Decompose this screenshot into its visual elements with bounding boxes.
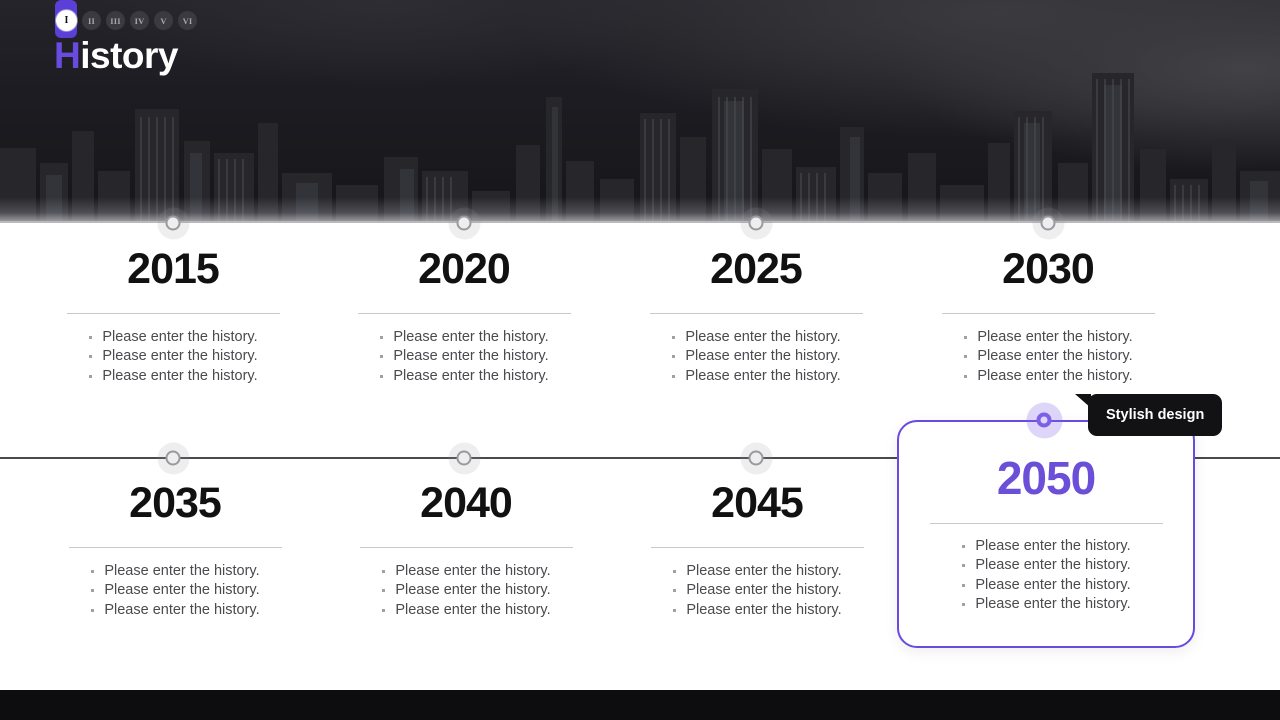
list-item: Please enter the history. (90, 562, 259, 581)
list-item: Please enter the history. (963, 328, 1132, 347)
tooltip-label: Stylish design (1106, 407, 1204, 423)
pagination-label: II (88, 16, 95, 26)
timeline-card-2030[interactable]: 2030 Please enter the history. Please en… (903, 248, 1193, 386)
list-item: Please enter the history. (963, 347, 1132, 366)
page-title: History (54, 36, 178, 77)
hero-banner (0, 0, 1280, 223)
pagination-item-1[interactable]: I (56, 10, 77, 31)
list-item: Please enter the history. (90, 581, 259, 600)
pagination-item-2[interactable]: II (82, 11, 101, 30)
card-bullet-list: Please enter the history. Please enter t… (961, 537, 1130, 614)
tooltip-stylish-design: Stylish design (1088, 394, 1222, 436)
card-year: 2040 (321, 482, 611, 525)
timeline-marker-2045[interactable] (749, 451, 764, 466)
timeline-marker-2015[interactable] (166, 216, 181, 231)
list-item: Please enter the history. (88, 347, 257, 366)
timeline-card-2015[interactable]: 2015 Please enter the history. Please en… (28, 248, 318, 386)
card-divider (360, 547, 573, 548)
timeline-marker-2025[interactable] (749, 216, 764, 231)
card-divider (358, 313, 571, 314)
pagination-label: IV (135, 16, 145, 26)
card-bullet-list: Please enter the history. Please enter t… (88, 328, 257, 386)
list-item: Please enter the history. (88, 328, 257, 347)
list-item: Please enter the history. (961, 576, 1130, 595)
list-item: Please enter the history. (672, 601, 841, 620)
pagination-item-4[interactable]: IV (130, 11, 149, 30)
card-divider (650, 313, 863, 314)
timeline-card-2045[interactable]: 2045 Please enter the history. Please en… (612, 482, 902, 620)
footer-bar (0, 690, 1280, 720)
card-year: 2030 (903, 248, 1193, 291)
list-item: Please enter the history. (961, 537, 1130, 556)
timeline-marker-2040[interactable] (457, 451, 472, 466)
card-divider (67, 313, 280, 314)
page-title-accent: H (54, 35, 80, 76)
tooltip-tail (1075, 394, 1091, 408)
card-year: 2020 (319, 248, 609, 291)
card-bullet-list: Please enter the history. Please enter t… (671, 328, 840, 386)
list-item: Please enter the history. (379, 367, 548, 386)
timeline-card-2025[interactable]: 2025 Please enter the history. Please en… (611, 248, 901, 386)
card-divider (69, 547, 282, 548)
timeline-marker-2030[interactable] (1041, 216, 1056, 231)
card-year: 2015 (28, 248, 318, 291)
card-year: 2025 (611, 248, 901, 291)
card-divider (930, 523, 1163, 524)
pagination-label: III (110, 16, 121, 26)
card-divider (942, 313, 1155, 314)
hero-bottom-fade (0, 197, 1280, 223)
list-item: Please enter the history. (671, 347, 840, 366)
page-title-rest: istory (80, 35, 178, 76)
card-bullet-list: Please enter the history. Please enter t… (672, 562, 841, 620)
card-bullet-list: Please enter the history. Please enter t… (379, 328, 548, 386)
pagination-label: I (64, 15, 68, 26)
timeline-card-2020[interactable]: 2020 Please enter the history. Please en… (319, 248, 609, 386)
list-item: Please enter the history. (672, 562, 841, 581)
pagination-label: VI (183, 16, 193, 26)
list-item: Please enter the history. (961, 556, 1130, 575)
timeline-card-2050-highlighted[interactable]: 2050 Please enter the history. Please en… (897, 420, 1195, 648)
list-item: Please enter the history. (671, 328, 840, 347)
list-item: Please enter the history. (379, 328, 548, 347)
timeline-marker-2035[interactable] (166, 451, 181, 466)
card-bullet-list: Please enter the history. Please enter t… (90, 562, 259, 620)
list-item: Please enter the history. (963, 367, 1132, 386)
card-bullet-list: Please enter the history. Please enter t… (381, 562, 550, 620)
pagination-item-5[interactable]: V (154, 11, 173, 30)
list-item: Please enter the history. (379, 347, 548, 366)
card-year: 2045 (612, 482, 902, 525)
card-bullet-list: Please enter the history. Please enter t… (963, 328, 1132, 386)
list-item: Please enter the history. (90, 601, 259, 620)
list-item: Please enter the history. (381, 581, 550, 600)
list-item: Please enter the history. (672, 581, 841, 600)
hero-baseline (0, 221, 1280, 223)
list-item: Please enter the history. (381, 601, 550, 620)
card-year: 2035 (30, 482, 320, 525)
timeline-card-2040[interactable]: 2040 Please enter the history. Please en… (321, 482, 611, 620)
pagination-item-6[interactable]: VI (178, 11, 197, 30)
timeline-marker-2050[interactable] (1037, 413, 1052, 428)
list-item: Please enter the history. (671, 367, 840, 386)
list-item: Please enter the history. (381, 562, 550, 581)
slide-pagination[interactable]: I II III IV V VI (56, 10, 197, 31)
list-item: Please enter the history. (961, 595, 1130, 614)
list-item: Please enter the history. (88, 367, 257, 386)
card-divider (651, 547, 864, 548)
pagination-label: V (160, 16, 166, 26)
timeline-marker-2020[interactable] (457, 216, 472, 231)
pagination-item-3[interactable]: III (106, 11, 125, 30)
timeline-card-2035[interactable]: 2035 Please enter the history. Please en… (30, 482, 320, 620)
